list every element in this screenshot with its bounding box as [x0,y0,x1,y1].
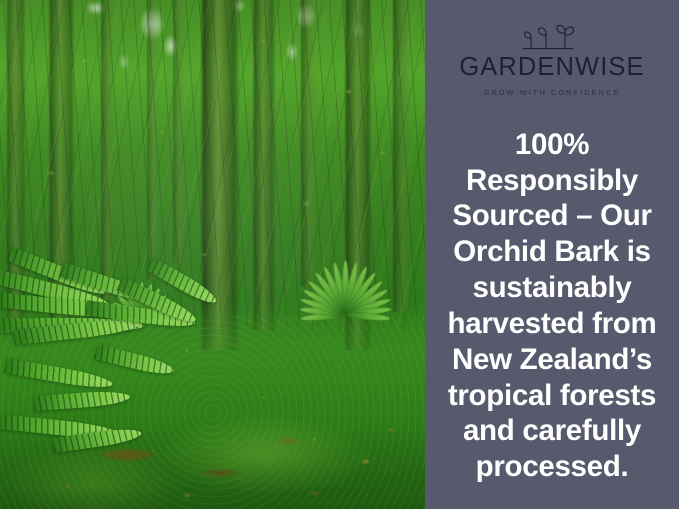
headline-line: and carefully [463,414,641,447]
sprout-seedling-icon [517,22,587,52]
product-ad-banner: GARDENWISE GROW WITH CONFIDENCE 100%Resp… [0,0,679,509]
headline-line: processed. [476,450,629,483]
headline-text: 100%ResponsiblySourced – OurOrchid Bark … [442,127,663,485]
brand-tagline: GROW WITH CONFIDENCE [484,88,621,97]
brand-wordmark: GARDENWISE [459,54,644,81]
forest-photo [0,0,425,509]
headline-line: sustainably [472,271,631,304]
message-panel: GARDENWISE GROW WITH CONFIDENCE 100%Resp… [425,0,679,509]
photo-color-grade-layer [0,0,425,509]
headline-line: Responsibly [466,164,638,197]
headline-line: 100% [515,128,589,161]
headline-line: tropical forests [448,379,656,412]
headline-line: Sourced – Our [452,199,651,232]
headline-line: New Zealand’s [452,343,652,376]
headline-line: harvested from [448,307,657,340]
brand-lockup: GARDENWISE GROW WITH CONFIDENCE [433,22,671,97]
headline-line: Orchid Bark is [453,235,650,268]
